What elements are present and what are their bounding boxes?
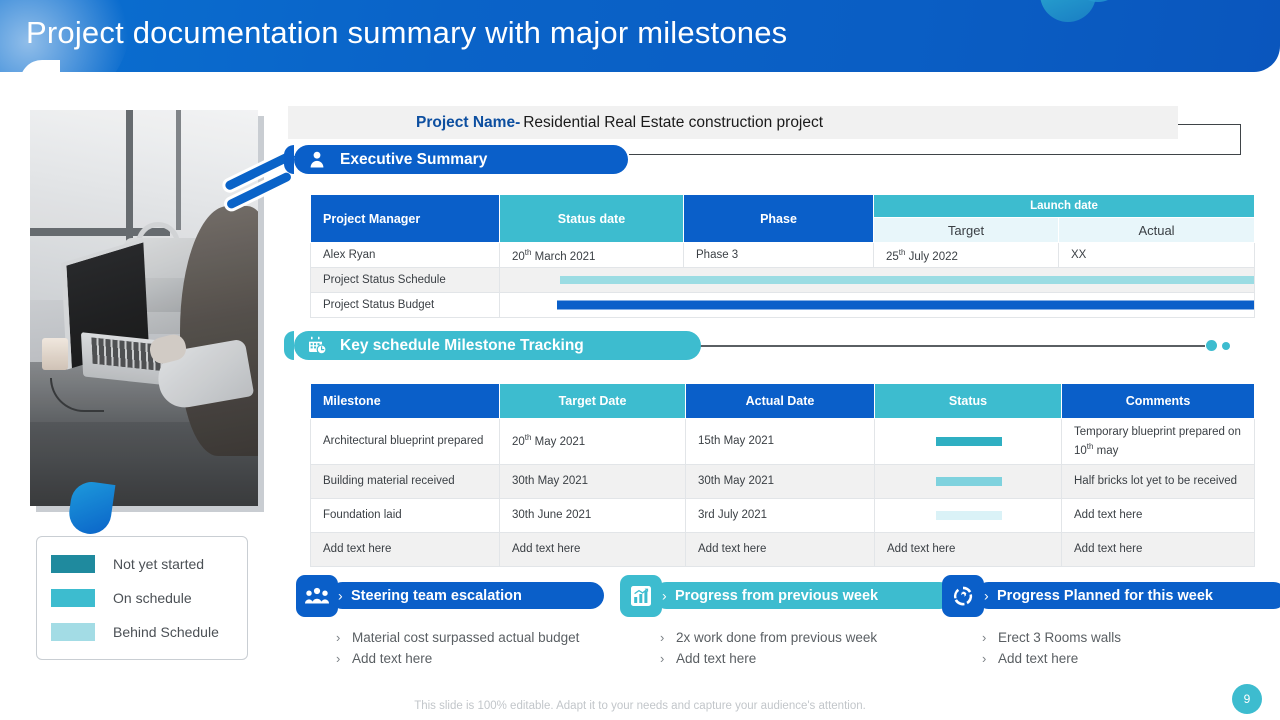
cell-target-launch: 25th July 2022 <box>874 243 1059 268</box>
legend-item: On schedule <box>37 581 247 615</box>
section-header-executive-summary[interactable]: Executive Summary <box>294 145 628 174</box>
cell-comments: Add text here <box>1062 533 1255 567</box>
legend-label: Not yet started <box>113 556 204 572</box>
cell-target-date: 30th May 2021 <box>500 465 686 499</box>
status-legend: Not yet started On schedule Behind Sched… <box>36 536 248 660</box>
list-item: Add text here <box>352 648 579 669</box>
legend-swatch-not-started <box>51 555 95 573</box>
footer-note: This slide is 100% editable. Adapt it to… <box>0 700 1280 712</box>
cell-project-manager: Alex Ryan <box>311 243 500 268</box>
cell-milestone: Add text here <box>311 533 500 567</box>
cell-status <box>875 465 1062 499</box>
cell-status-schedule-bar <box>500 268 1255 293</box>
col-target-date: Target Date <box>500 384 686 419</box>
panel-bullet-list: Erect 3 Rooms walls Add text here <box>942 627 1121 669</box>
connector-dot-small <box>1222 342 1230 350</box>
cell-status-date: 20th March 2021 <box>500 243 684 268</box>
panel-header[interactable]: Steering team escalation <box>296 575 579 617</box>
milestone-connector-line <box>700 345 1205 347</box>
cell-comments: Half bricks lot yet to be received <box>1062 465 1255 499</box>
table-row: Alex Ryan 20th March 2021 Phase 3 25th J… <box>311 243 1255 268</box>
section-header-milestone-tracking[interactable]: Key schedule Milestone Tracking <box>294 331 701 360</box>
table-row-status-budget: Project Status Budget <box>311 293 1255 318</box>
banner-corner-notch <box>20 60 60 100</box>
col-milestone: Milestone <box>311 384 500 419</box>
legend-label: Behind Schedule <box>113 624 219 640</box>
legend-label: On schedule <box>113 590 192 606</box>
milestone-pill-bracket <box>284 331 294 360</box>
milestone-tracking-table: Milestone Target Date Actual Date Status… <box>310 383 1255 567</box>
list-item: Material cost surpassed actual budget <box>352 627 579 648</box>
cell-target-date: Add text here <box>500 533 686 567</box>
cell-actual-launch: XX <box>1059 243 1255 268</box>
cell-status-budget-label: Project Status Budget <box>311 293 500 318</box>
hero-photo-container <box>30 110 258 506</box>
panel-title: Steering team escalation <box>329 582 604 609</box>
col-comments: Comments <box>1062 384 1255 419</box>
status-bar <box>936 511 1002 520</box>
col-project-manager: Project Manager <box>311 195 500 243</box>
col-status: Status <box>875 384 1062 419</box>
cell-actual-date: 30th May 2021 <box>686 465 875 499</box>
panel-title: Progress from previous week <box>653 582 953 609</box>
cell-milestone: Foundation laid <box>311 499 500 533</box>
executive-summary-table: Project Manager Status date Phase Launch… <box>310 194 1255 318</box>
panel-bullet-list: Material cost surpassed actual budget Ad… <box>296 627 579 669</box>
cell-target-date: 30th June 2021 <box>500 499 686 533</box>
cell-comments: Temporary blueprint prepared on10th may <box>1062 419 1255 465</box>
table-row: Building material received 30th May 2021… <box>311 465 1255 499</box>
panel-header[interactable]: Progress from previous week <box>620 575 877 617</box>
legend-item: Behind Schedule <box>37 615 247 649</box>
table-row: Foundation laid 30th June 2021 3rd July … <box>311 499 1255 533</box>
panel-progress-previous-week: Progress from previous week 2x work done… <box>620 575 877 669</box>
cell-comments: Add text here <box>1062 499 1255 533</box>
status-bar <box>936 437 1002 446</box>
banner-bubble-decoration-1 <box>1040 0 1096 22</box>
cell-actual-date: 3rd July 2021 <box>686 499 875 533</box>
panel-steering-team-escalation: Steering team escalation Material cost s… <box>296 575 579 669</box>
calendar-clock-icon <box>306 335 328 357</box>
legend-swatch-behind-schedule <box>51 623 95 641</box>
cell-status: Add text here <box>875 533 1062 567</box>
project-name-bar: Project Name- Residential Real Estate co… <box>288 106 1178 139</box>
status-bar-schedule <box>560 276 1254 284</box>
cell-status <box>875 499 1062 533</box>
page-number-badge: 9 <box>1232 684 1262 714</box>
legend-item: Not yet started <box>37 547 247 581</box>
cell-actual-date: 15th May 2021 <box>686 419 875 465</box>
section-label: Key schedule Milestone Tracking <box>340 337 584 355</box>
col-phase: Phase <box>684 195 874 243</box>
cell-status-budget-bar <box>500 293 1255 318</box>
cell-status-schedule-label: Project Status Schedule <box>311 268 500 293</box>
legend-swatch-on-schedule <box>51 589 95 607</box>
col-status-date: Status date <box>500 195 684 243</box>
project-name-value: Residential Real Estate construction pro… <box>523 114 823 132</box>
status-bar-budget <box>557 301 1254 310</box>
cell-phase: Phase 3 <box>684 243 874 268</box>
list-item: Add text here <box>998 648 1121 669</box>
list-item: 2x work done from previous week <box>676 627 877 648</box>
project-name-label: Project Name- <box>416 114 520 132</box>
section-label: Executive Summary <box>340 151 487 169</box>
table-row-status-schedule: Project Status Schedule <box>311 268 1255 293</box>
cell-target-date: 20th May 2021 <box>500 419 686 465</box>
table-header-row: Milestone Target Date Actual Date Status… <box>311 384 1255 419</box>
cell-milestone: Building material received <box>311 465 500 499</box>
panel-header[interactable]: Progress Planned for this week <box>942 575 1121 617</box>
status-bar <box>936 477 1002 486</box>
page-title: Project documentation summary with major… <box>26 15 787 51</box>
col-launch-date: Launch date <box>874 195 1255 218</box>
panel-progress-planned-this-week: Progress Planned for this week Erect 3 R… <box>942 575 1121 669</box>
panel-bullet-list: 2x work done from previous week Add text… <box>620 627 877 669</box>
list-item: Add text here <box>676 648 877 669</box>
col-actual-date: Actual Date <box>686 384 875 419</box>
table-header-row: Project Manager Status date Phase Launch… <box>311 195 1255 218</box>
panel-title: Progress Planned for this week <box>975 582 1280 609</box>
header-banner: Project documentation summary with major… <box>0 0 1280 72</box>
col-target: Target <box>874 218 1059 243</box>
exec-summary-pill-bracket <box>284 145 294 174</box>
person-icon <box>306 149 328 171</box>
connector-dot-large <box>1206 340 1217 351</box>
col-actual: Actual <box>1059 218 1255 243</box>
list-item: Erect 3 Rooms walls <box>998 627 1121 648</box>
table-row: Add text here Add text here Add text her… <box>311 533 1255 567</box>
cell-status <box>875 419 1062 465</box>
cell-milestone: Architectural blueprint prepared <box>311 419 500 465</box>
cell-actual-date: Add text here <box>686 533 875 567</box>
table-row: Architectural blueprint prepared 20th Ma… <box>311 419 1255 465</box>
